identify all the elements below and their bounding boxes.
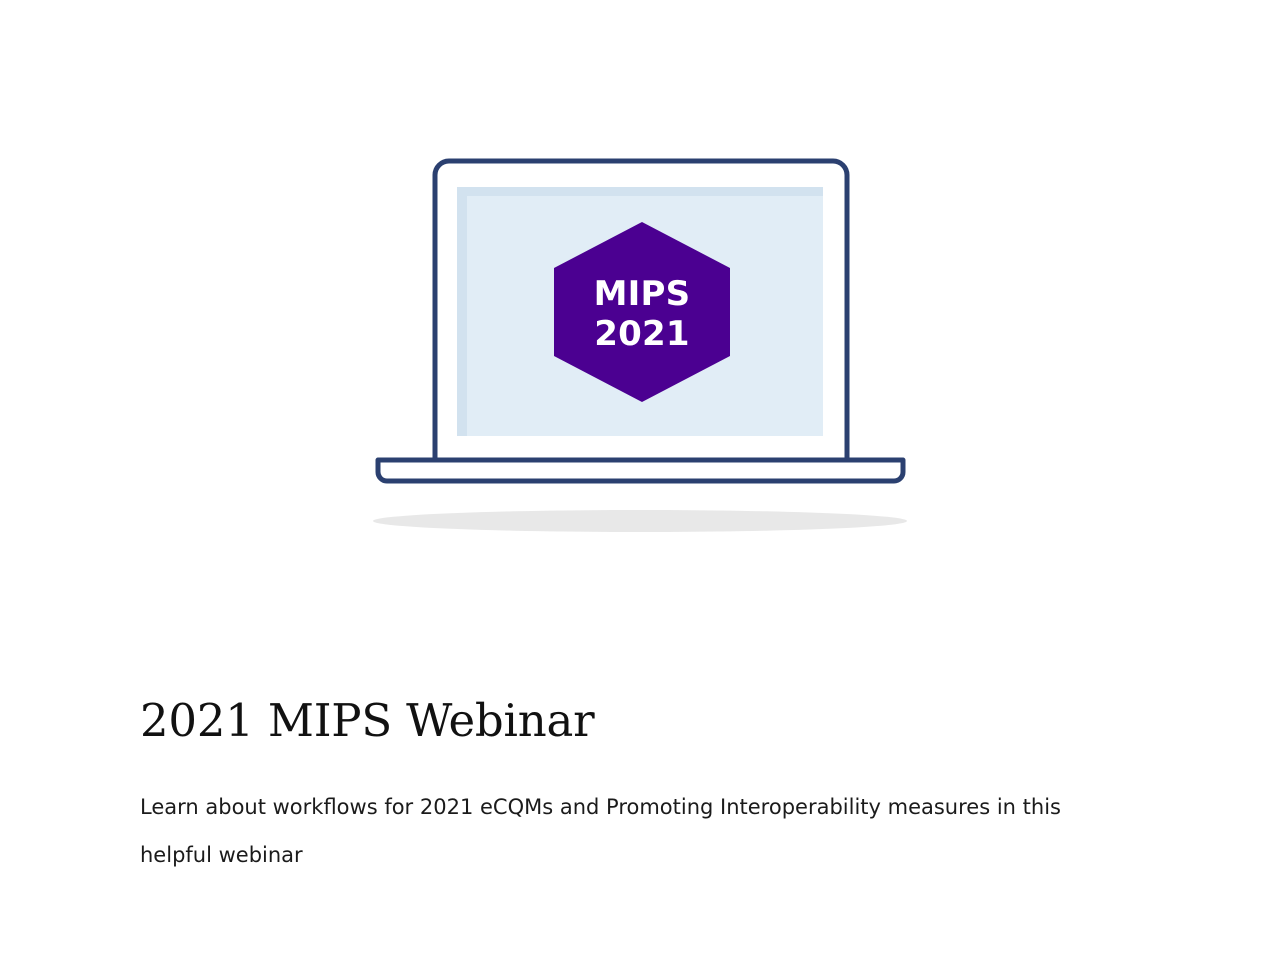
laptop-shadow-ellipse <box>373 510 907 532</box>
content-text-block: 2021 MIPS Webinar Learn about workflows … <box>140 690 1150 879</box>
page-title: 2021 MIPS Webinar <box>140 690 1150 752</box>
laptop-illustration-svg: MIPS 2021 <box>0 0 1280 640</box>
badge-line-2: 2021 <box>594 314 689 354</box>
page-root: MIPS 2021 2021 MIPS Webinar Learn about … <box>0 0 1280 960</box>
laptop-base-bar <box>378 460 903 481</box>
page-description: Learn about workflows for 2021 eCQMs and… <box>140 752 1125 879</box>
hero-illustration: MIPS 2021 <box>0 0 1280 640</box>
badge-line-1: MIPS <box>594 274 691 314</box>
